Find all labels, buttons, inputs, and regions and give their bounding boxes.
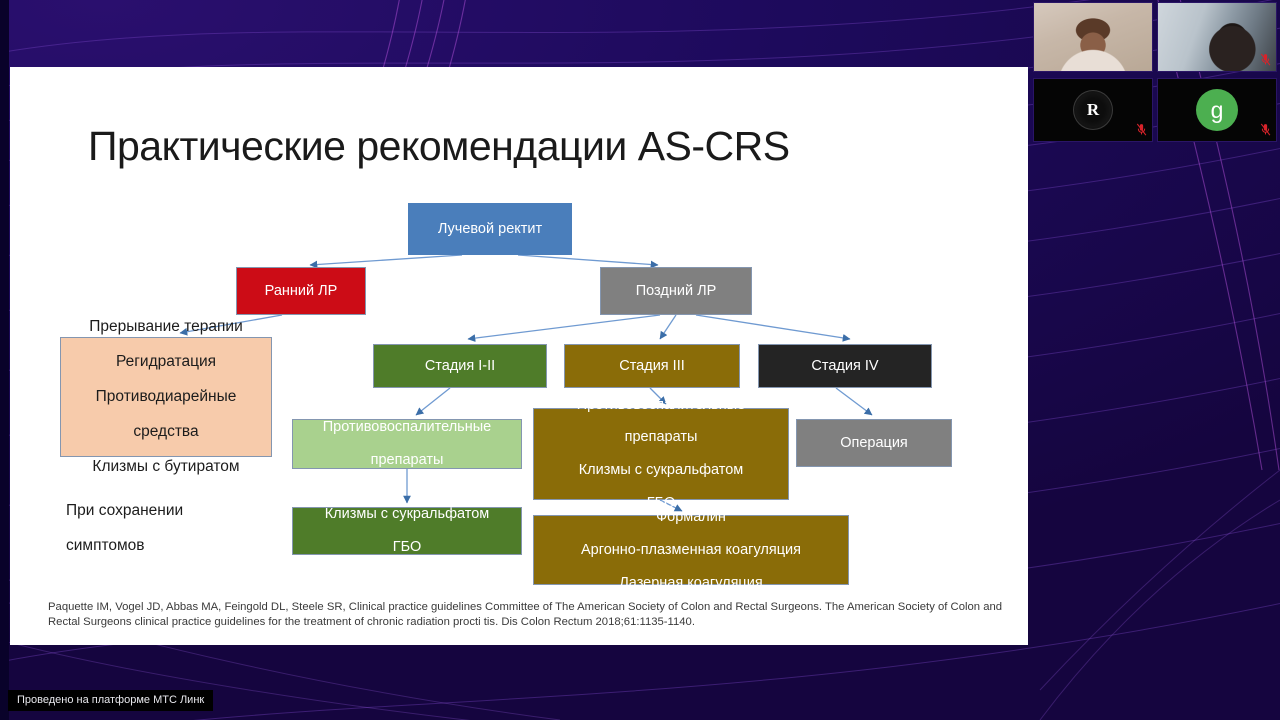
node-late-lr[interactable]: Поздний ЛР [600, 267, 752, 315]
node-sucralfate-enema-lines: Клизмы с сукральфатом ГБО [297, 506, 517, 555]
node-surgery-label: Операция [801, 435, 947, 451]
node-stage-4-label: Стадия IV [763, 358, 927, 374]
node-sucralfate-enema[interactable]: Клизмы с сукральфатом ГБО [292, 507, 522, 555]
formalin-line-2: Аргонно-плазменная коагуляция [538, 542, 844, 558]
mic-off-icon [1260, 53, 1271, 66]
ai-olive-line-1: Противовоспалительные [538, 397, 784, 413]
node-early-treatment[interactable]: Прерывание терапии Регидратация Противод… [60, 337, 272, 457]
early-line-5: Клизмы с бутиратом [65, 458, 267, 476]
node-surgery[interactable]: Операция [796, 419, 952, 467]
slide-citation: Paquette IM, Vogel JD, Abbas MA, Feingol… [48, 600, 1010, 631]
early-line-2: Регидратация [65, 353, 267, 371]
node-stage-1-2[interactable]: Стадия I-II [373, 344, 547, 388]
early-line-3: Противодиарейные [65, 388, 267, 406]
node-anti-inflammatory-light-lines: Противовоспалительные препараты [297, 419, 517, 468]
participant-tiles: R g [1033, 2, 1279, 144]
ai-olive-line-3: Клизмы с сукральфатом [538, 462, 784, 478]
ai-light-line-2: препараты [297, 452, 517, 468]
ai-light-line-1: Противовоспалительные [297, 419, 517, 435]
persist-line-2: симптомов [66, 537, 263, 555]
enema-line-2: ГБО [297, 539, 517, 555]
node-anti-inflammatory-stage3-lines: Противовоспалительные препараты Клизмы с… [538, 397, 784, 512]
node-late-lr-label: Поздний ЛР [605, 283, 747, 299]
node-stage-4[interactable]: Стадия IV [758, 344, 932, 388]
persist-line-1: При сохранении [66, 502, 263, 520]
treatment-algorithm-diagram: Лучевой ректит Ранний ЛР Поздний ЛР Прер… [10, 67, 1028, 645]
participant-tile-2[interactable] [1157, 2, 1277, 72]
avatar: g [1196, 89, 1238, 131]
formalin-line-1: Формалин [538, 509, 844, 525]
node-root[interactable]: Лучевой ректит [408, 203, 572, 255]
note-persistent-symptoms: При сохранении симптомов [62, 500, 267, 556]
participant-tile-4[interactable]: g [1157, 78, 1277, 142]
node-early-lr-label: Ранний ЛР [241, 283, 361, 299]
node-early-lr[interactable]: Ранний ЛР [236, 267, 366, 315]
participant-tile-1[interactable] [1033, 2, 1153, 72]
node-stage-3-label: Стадия III [569, 358, 735, 374]
early-line-4: средства [65, 423, 267, 441]
left-frame-edge [0, 0, 9, 720]
node-early-treatment-lines: Прерывание терапии Регидратация Противод… [65, 318, 267, 476]
participant-tile-3[interactable]: R [1033, 78, 1153, 142]
node-stage-1-2-label: Стадия I-II [378, 358, 542, 374]
node-anti-inflammatory-stage3[interactable]: Противовоспалительные препараты Клизмы с… [533, 408, 789, 500]
mic-off-icon [1260, 123, 1271, 136]
early-line-1: Прерывание терапии [65, 318, 267, 336]
node-anti-inflammatory-light[interactable]: Противовоспалительные препараты [292, 419, 522, 469]
mic-off-icon [1136, 123, 1147, 136]
ai-olive-line-2: препараты [538, 429, 784, 445]
formalin-line-3: Лазерная коагуляция [538, 575, 844, 591]
node-formalin-coagulation-lines: Формалин Аргонно-плазменная коагуляция Л… [538, 509, 844, 591]
avatar: R [1073, 90, 1113, 130]
platform-watermark: Проведено на платформе МТС Линк [8, 690, 213, 711]
node-root-label: Лучевой ректит [413, 221, 567, 237]
node-formalin-coagulation[interactable]: Формалин Аргонно-плазменная коагуляция Л… [533, 515, 849, 585]
presentation-slide: Практические рекомендации AS-CRS [10, 67, 1028, 645]
enema-line-1: Клизмы с сукральфатом [297, 506, 517, 522]
node-stage-3[interactable]: Стадия III [564, 344, 740, 388]
